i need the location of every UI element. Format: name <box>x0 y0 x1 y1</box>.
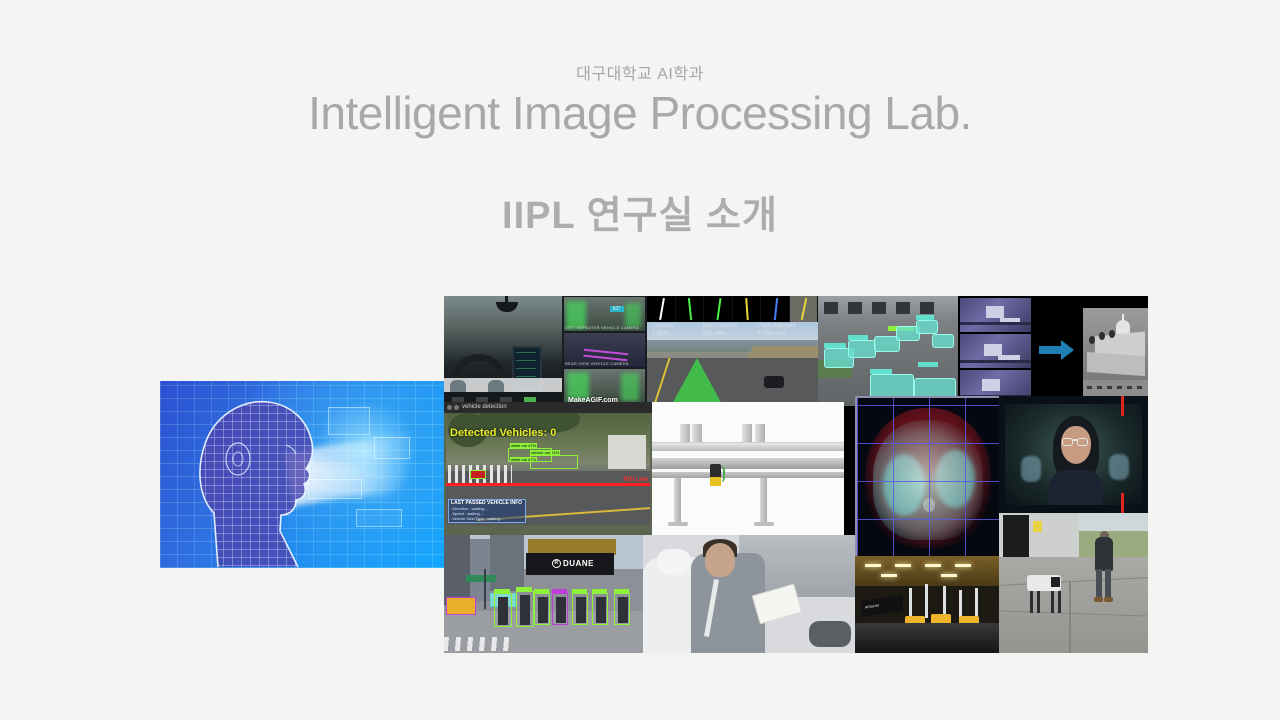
window-title-bar[interactable]: vehicle detection <box>444 402 652 413</box>
lane-hud: Curvature 1.95m Right Curvature 651.48m … <box>647 323 818 341</box>
vehicle-tag <box>916 315 934 320</box>
eyeglasses-icon <box>1077 438 1088 446</box>
person-box <box>534 593 550 625</box>
person-label <box>494 589 510 593</box>
vehicle-tag <box>918 362 938 367</box>
roi-line-label: ROI Line <box>623 477 648 483</box>
person-shoe <box>1104 597 1113 602</box>
garage-door <box>1003 515 1029 561</box>
hud-label-center-alignment: Center Alignment <box>757 323 795 329</box>
concrete-ground <box>999 557 1148 653</box>
camera-label: REAR VIEW VEHICLE CAMERA <box>565 361 629 366</box>
segmented-vehicle <box>932 334 954 348</box>
person-torso <box>1095 537 1113 571</box>
driver-hand <box>488 380 504 392</box>
person-box <box>592 593 608 625</box>
guardrail-post <box>674 478 681 524</box>
lab-title: Intelligent Image Processing Lab. <box>0 86 1280 140</box>
building-wing <box>1087 352 1145 376</box>
drivable-area-overlay <box>671 358 723 406</box>
hud-value-center-alignment: 0.05m Left <box>757 331 785 337</box>
crosswalk <box>444 637 514 651</box>
passenger-head <box>705 543 735 577</box>
capitol-dome <box>1116 320 1130 334</box>
aerial-stereo-pair-image <box>958 296 1033 406</box>
autopilot-camera-stack-image: 61° LEFT REPEATER VEHICLE CAMERA REAR VI… <box>562 296 647 406</box>
person-box <box>516 591 534 627</box>
warehouse-robots-image: amazon <box>855 556 999 653</box>
person-label <box>534 589 549 593</box>
vehicle-tag <box>870 369 892 374</box>
vehicle-detection-window[interactable]: vehicle detection Detected Vehicles: 0 w… <box>444 402 652 535</box>
arrow-right-icon <box>1039 346 1063 354</box>
aerial-view-1 <box>960 298 1031 332</box>
console-map-lines <box>516 352 536 353</box>
street-sign <box>466 575 496 582</box>
tesla-cockpit-image <box>444 296 562 406</box>
processing-arrow <box>1033 296 1079 406</box>
red-marker <box>1121 493 1124 513</box>
house <box>608 435 646 469</box>
robot-leg <box>1037 591 1040 613</box>
detected-car <box>764 376 784 388</box>
walking-person <box>1093 531 1115 603</box>
person-leg <box>1096 569 1102 599</box>
hud-value-right-curvature: 651.48m <box>703 331 726 337</box>
robot-dog-body <box>1027 575 1061 591</box>
video-frame <box>1005 404 1142 505</box>
last-passed-vehicle-info: LAST PASSED VEHICLE INFO -Direction : wa… <box>448 499 526 523</box>
pedestrian-detection-image: RDUANE <box>444 535 643 653</box>
storefront-sign: RDUANE <box>552 559 594 568</box>
segmented-vehicle <box>848 340 876 358</box>
eyeglasses-icon <box>1062 438 1073 446</box>
banner-text: amazon <box>865 602 879 609</box>
detection-box <box>530 455 578 469</box>
driver-hand <box>450 380 466 392</box>
lane-detection-image: Curvature 1.95m Right Curvature 651.48m … <box>647 296 818 406</box>
warehouse-ceiling <box>855 556 999 586</box>
arrow-head-icon <box>1061 340 1074 360</box>
street-lamp-icon <box>496 302 518 312</box>
aerial-view-2 <box>960 334 1031 368</box>
page-title: IIPL 연구실 소개 <box>0 184 1280 239</box>
person-box <box>494 593 512 627</box>
research-image-collage: 61° LEFT REPEATER VEHICLE CAMERA REAR VI… <box>444 296 1148 653</box>
person-shoe <box>1094 597 1103 602</box>
person-box <box>552 593 568 625</box>
shoe <box>809 621 851 647</box>
detection-scene: Detected Vehicles: 0 white car 47% vehic… <box>446 413 650 525</box>
detected-bus <box>446 597 476 615</box>
vehicle-tag <box>848 335 868 340</box>
wireframe-human-head-image <box>160 381 445 568</box>
quadruped-robot-image <box>999 513 1148 653</box>
hud-value-curvature: 1.95m <box>652 331 669 337</box>
camera-badge: 61° <box>610 306 624 312</box>
post-footing <box>668 522 688 526</box>
camera-label: LEFT REPEATER VEHICLE CAMERA <box>565 325 639 330</box>
roi-line <box>446 483 650 486</box>
person-box <box>572 593 588 625</box>
hud-label-right-curvature: Right Curvature <box>703 323 738 329</box>
wall-sign <box>1033 521 1042 532</box>
medical-image-registration <box>855 396 1003 560</box>
robot-cable <box>721 466 725 482</box>
eyeglasses-bridge <box>1073 439 1077 441</box>
3d-reconstruction-image <box>1079 296 1148 406</box>
person-label <box>592 589 607 593</box>
info-line: -Vehicle Size/Type : waiting... <box>451 516 523 521</box>
department-label: 대구대학교 AI학과 <box>0 60 1280 84</box>
raised-hand <box>1021 456 1041 482</box>
guardrail-post <box>760 478 767 524</box>
face-recognition-display <box>999 396 1148 513</box>
vehicle-tag <box>824 343 846 348</box>
autonomous-car-interior-image <box>643 535 855 653</box>
presentation-slide: 대구대학교 AI학과 Intelligent Image Processing … <box>0 0 1280 720</box>
person-label <box>614 589 629 593</box>
torso <box>1049 470 1103 505</box>
segmentation-blob <box>621 373 639 401</box>
guardrail-middle-beam <box>652 458 844 469</box>
hud-label-curvature: Curvature <box>652 323 674 329</box>
post-footing <box>754 522 774 526</box>
segmentation-blob <box>625 303 641 327</box>
segmented-vehicle <box>916 320 938 334</box>
person-label <box>516 587 532 591</box>
raised-hand <box>1109 454 1129 480</box>
rail-inspection-robot-image <box>652 402 844 535</box>
window-title: vehicle detection <box>462 404 507 410</box>
reconstruction-render <box>1083 308 1148 406</box>
robot-leg <box>1058 591 1061 613</box>
deformation-grid <box>857 398 1001 558</box>
sign-pole <box>484 569 486 609</box>
detected-vehicles-count: Detected Vehicles: 0 <box>450 427 556 439</box>
lane-overlay <box>584 349 628 356</box>
robot-leg <box>1051 591 1054 613</box>
headrest <box>657 549 691 575</box>
amazon-banner: amazon <box>861 595 903 617</box>
person-label <box>552 589 567 593</box>
storefront-name: DUANE <box>563 559 594 568</box>
warehouse-floor <box>855 623 999 653</box>
guardrail-upper-beam <box>652 442 844 451</box>
person-box <box>614 593 630 625</box>
person-label <box>572 589 587 593</box>
head-wireframe-icon <box>160 381 445 568</box>
parking-structure <box>818 296 958 322</box>
red-marker <box>1121 396 1124 416</box>
storefront-logo-icon: R <box>552 559 561 568</box>
detected-red-car <box>470 470 486 479</box>
robot-leg <box>1030 591 1033 613</box>
parking-lot-segmentation-image <box>818 296 958 406</box>
lane-analysis-panels <box>647 296 818 322</box>
person-leg <box>1105 569 1111 599</box>
inspection-robot <box>710 464 721 486</box>
